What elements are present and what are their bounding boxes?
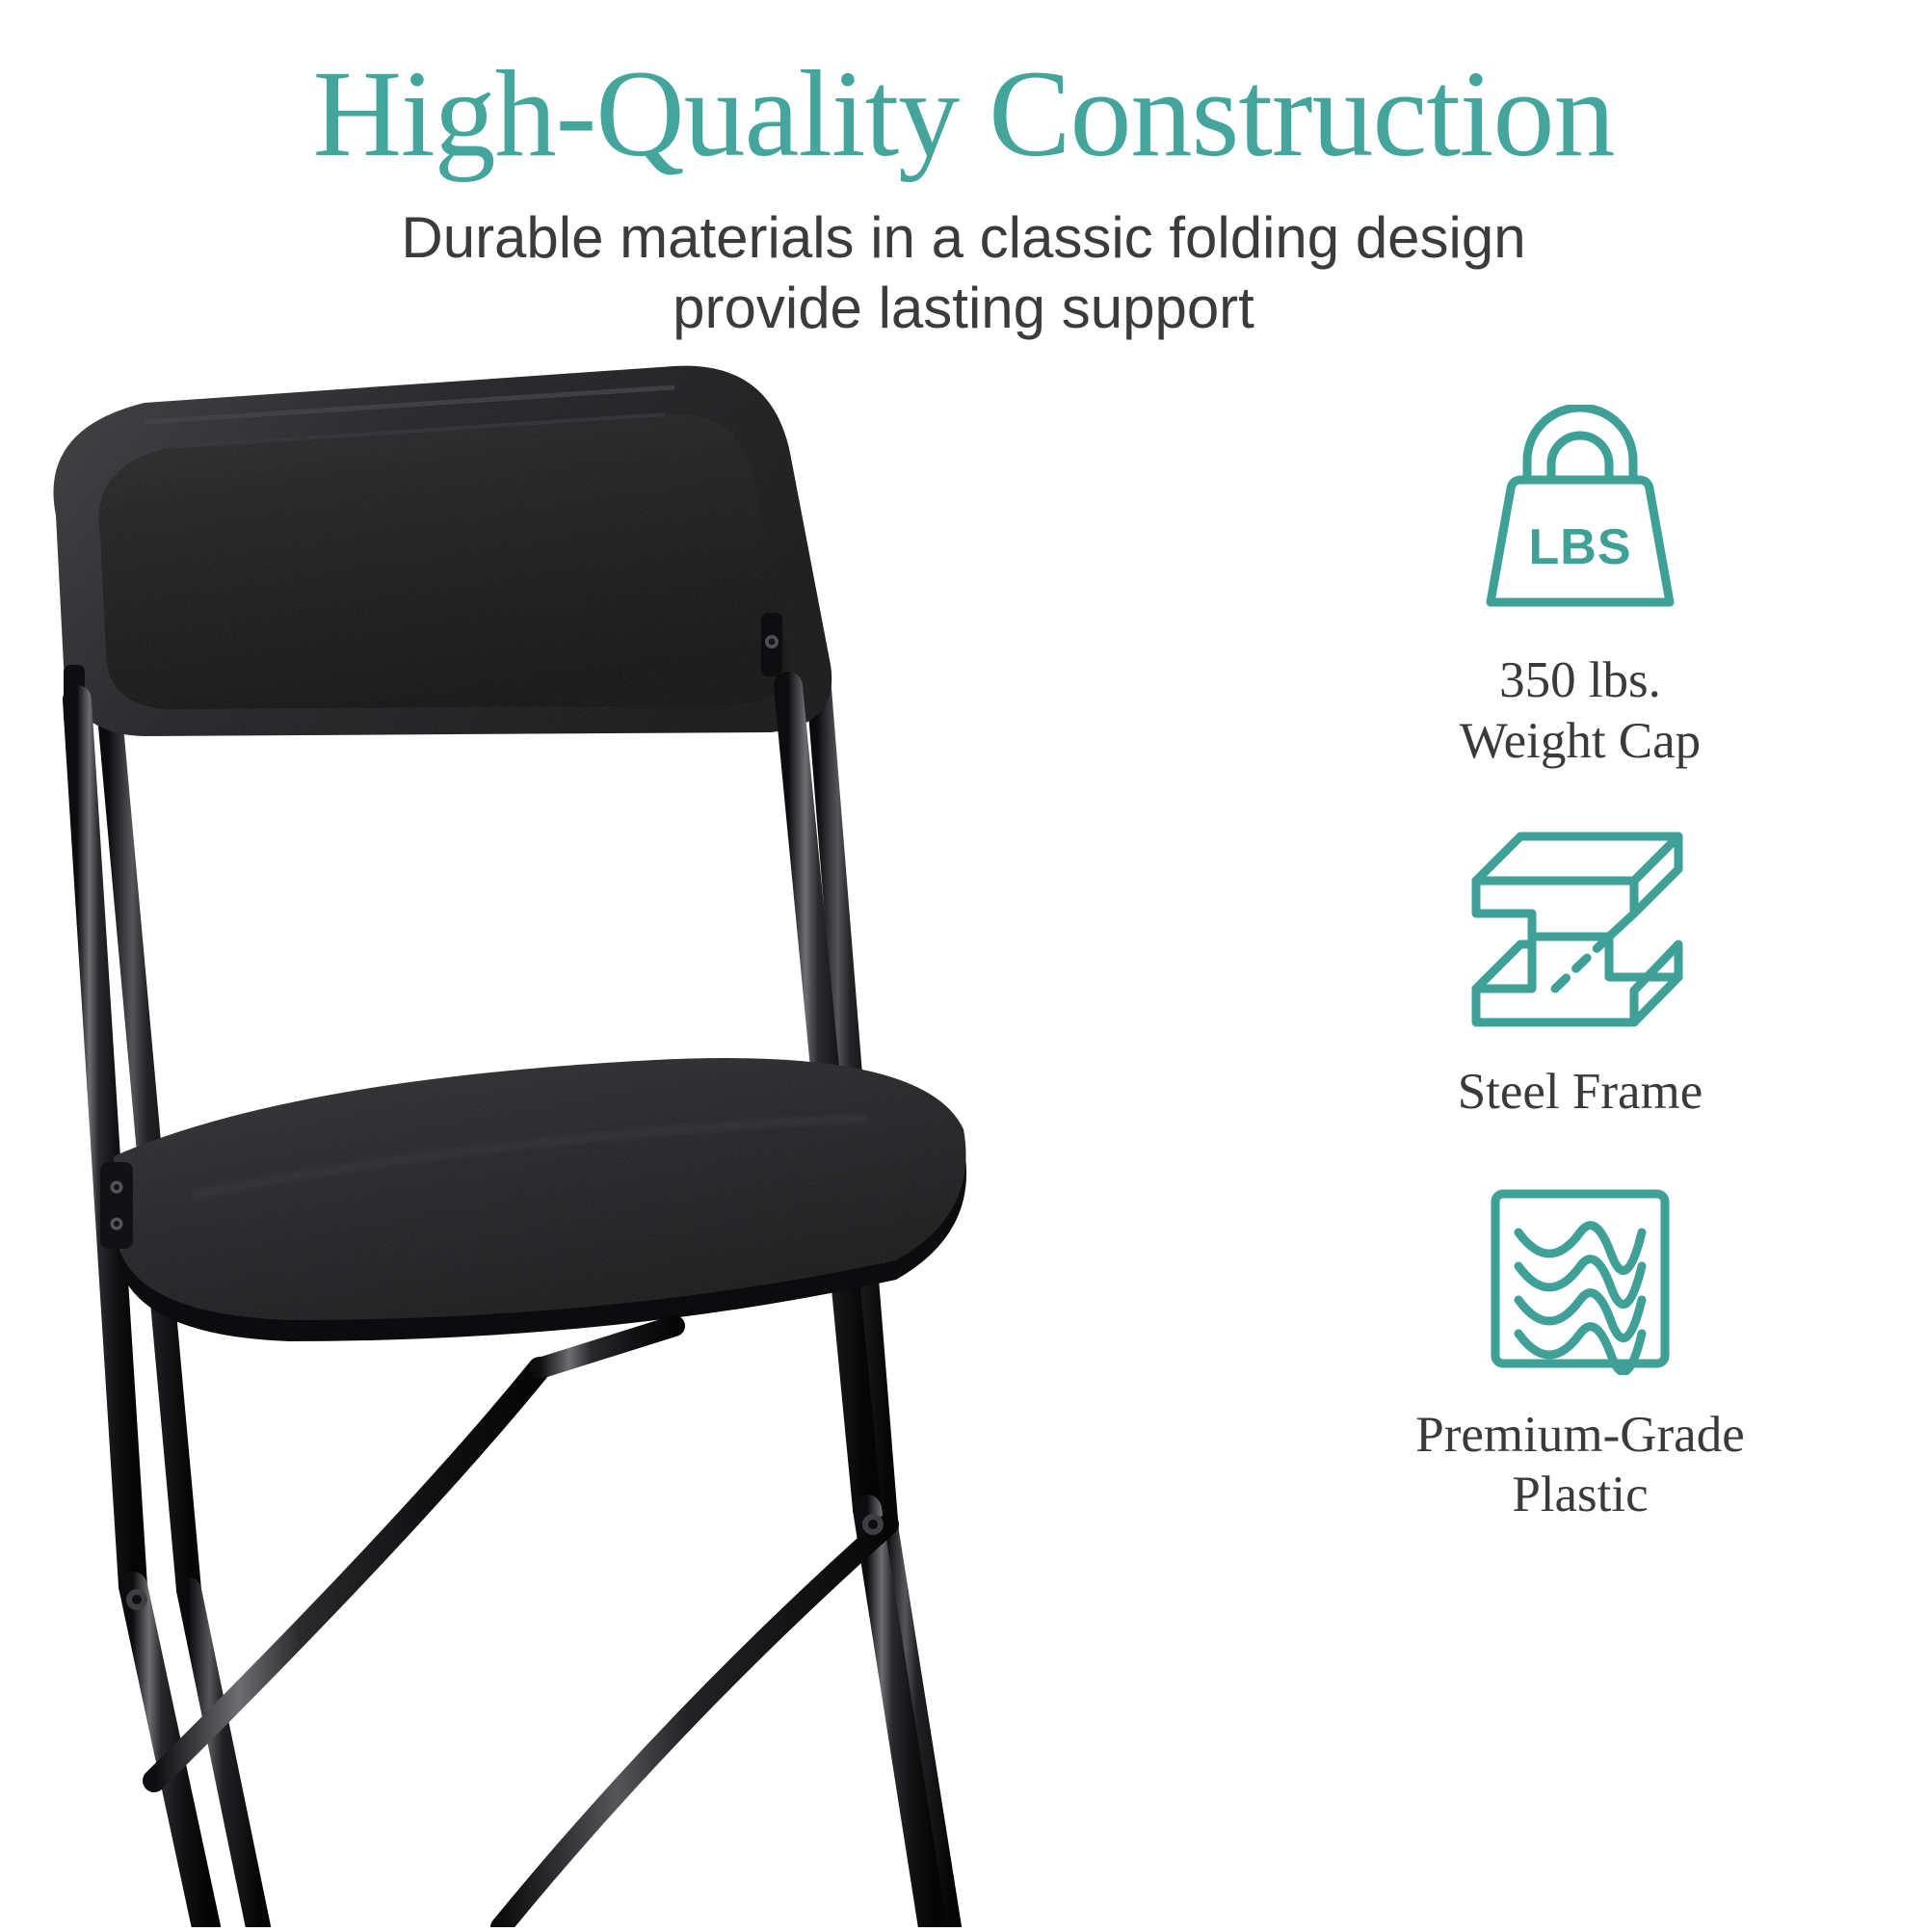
feature-label-steel-frame: Steel Frame bbox=[1458, 1062, 1703, 1123]
feature-weight-cap: LBS 350 lbs. Weight Cap bbox=[1330, 405, 1831, 771]
weight-bag-icon: LBS bbox=[1460, 405, 1701, 622]
seat-hinge-bracket bbox=[100, 1162, 133, 1249]
chair-pivot-bolts bbox=[126, 1514, 884, 1610]
product-image-folding-chair bbox=[0, 347, 1079, 1927]
i-beam-icon bbox=[1455, 825, 1705, 1037]
weight-bag-icon-label: LBS bbox=[1529, 519, 1632, 575]
chair-cross-brace bbox=[154, 1326, 888, 1927]
page-subtitle: Durable materials in a classic folding d… bbox=[0, 202, 1927, 343]
backrest-right-rivet bbox=[761, 613, 782, 676]
feature-label-weight-cap: 350 lbs. Weight Cap bbox=[1460, 650, 1701, 771]
feature-steel-frame: Steel Frame bbox=[1330, 825, 1831, 1123]
subtitle-line-1: Durable materials in a classic folding d… bbox=[0, 202, 1927, 273]
feature-list: LBS 350 lbs. Weight Cap Steel Frame bbox=[1330, 405, 1831, 1525]
subtitle-line-2: provide lasting support bbox=[0, 273, 1927, 343]
feature-premium-plastic: Premium-Grade Plastic bbox=[1330, 1182, 1831, 1525]
header-block: High-Quality Construction Durable materi… bbox=[0, 0, 1927, 343]
page-title: High-Quality Construction bbox=[0, 52, 1927, 175]
chair-backrest bbox=[0, 347, 1079, 761]
wavy-lines-square-icon bbox=[1484, 1182, 1676, 1380]
feature-label-premium-plastic: Premium-Grade Plastic bbox=[1415, 1405, 1744, 1525]
